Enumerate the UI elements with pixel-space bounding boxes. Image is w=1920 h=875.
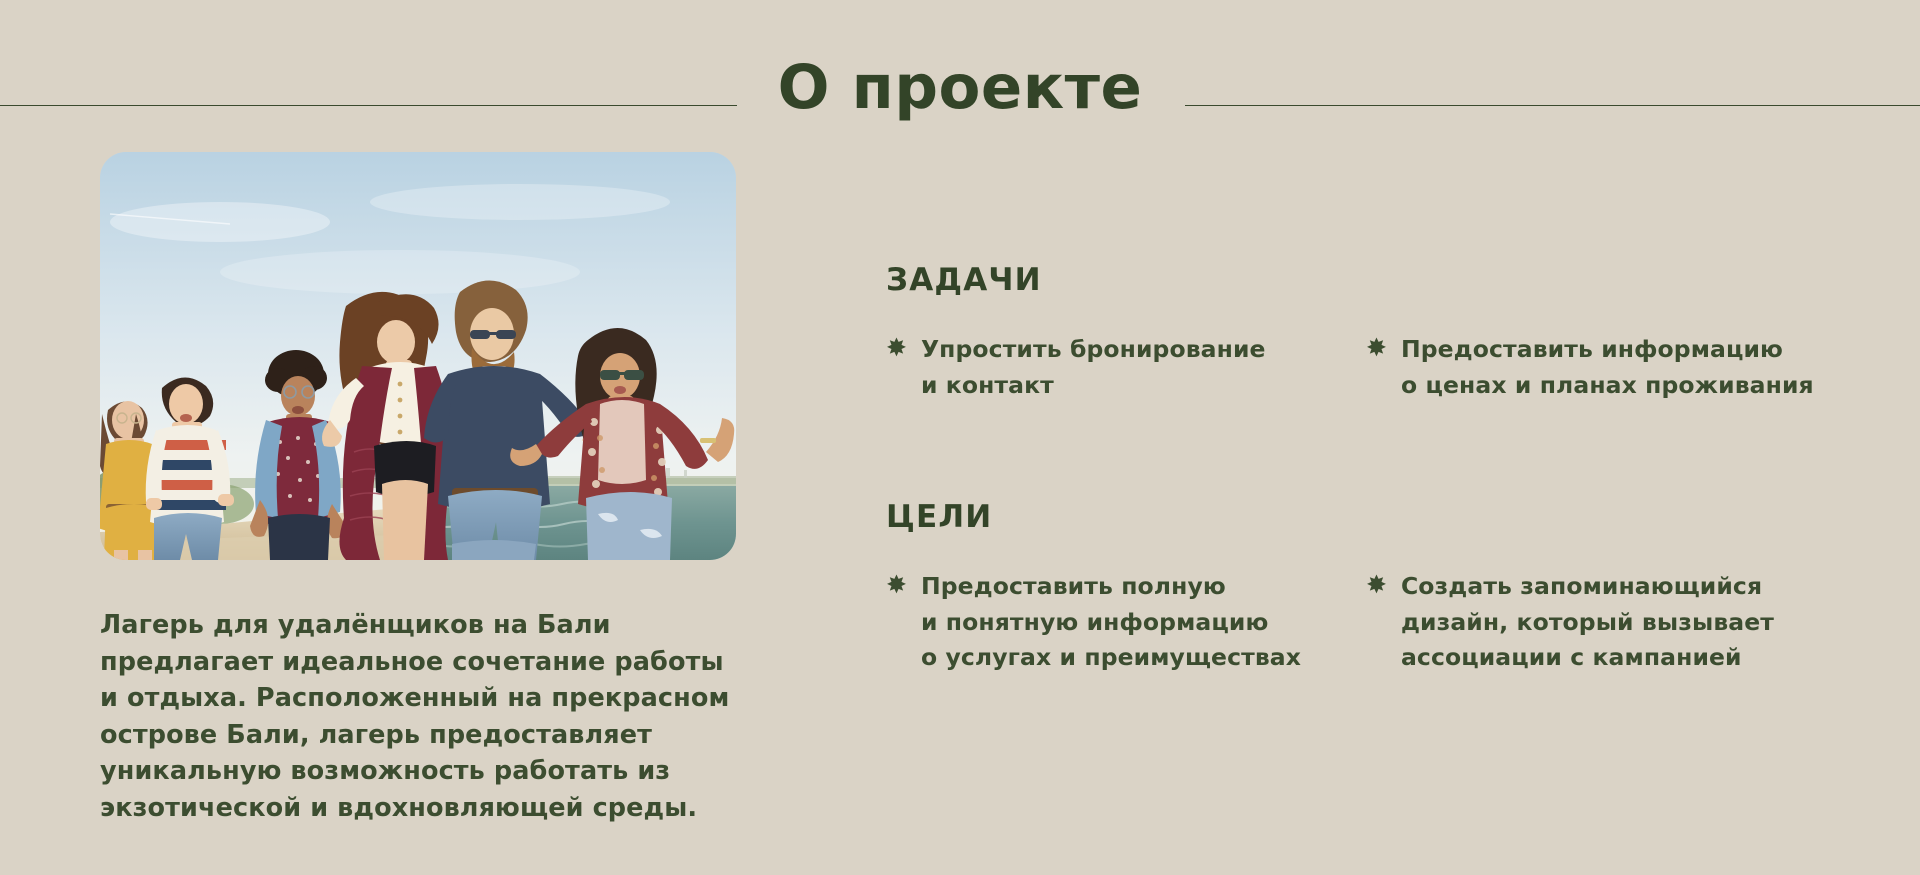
bullet-column-left: ✸ Упростить бронирование и контакт: [886, 332, 1366, 403]
list-item-label: Предоставить полную и понятную информаци…: [921, 569, 1301, 676]
left-column: Лагерь для удалёнщиков на Бали предлагае…: [100, 152, 740, 826]
slide-about-project: О проекте: [0, 0, 1920, 875]
section-goals-bullets: ✸ Предоставить полную и понятную информа…: [886, 569, 1846, 676]
bullet-column-left: ✸ Предоставить полную и понятную информа…: [886, 569, 1366, 676]
bullet-column-right: ✸ Создать запоминающийся дизайн, который…: [1366, 569, 1846, 676]
list-item: ✸ Предоставить полную и понятную информа…: [886, 569, 1366, 676]
header-rule-right: [1185, 105, 1920, 106]
section-tasks-bullets: ✸ Упростить бронирование и контакт ✸ Пре…: [886, 332, 1846, 403]
list-item: ✸ Предоставить информацию о ценах и план…: [1366, 332, 1846, 403]
hero-photo: [100, 152, 736, 560]
list-item: ✸ Упростить бронирование и контакт: [886, 332, 1366, 403]
page-title: О проекте: [760, 48, 1160, 128]
list-item-label: Создать запоминающийся дизайн, который в…: [1401, 569, 1774, 676]
section-goals-heading: ЦЕЛИ: [886, 499, 1846, 535]
bullet-column-right: ✸ Предоставить информацию о ценах и план…: [1366, 332, 1846, 403]
section-goals: ЦЕЛИ ✸ Предоставить полную и понятную ин…: [886, 499, 1846, 676]
eight-point-star-icon: ✸: [886, 568, 907, 602]
eight-point-star-icon: ✸: [1366, 331, 1387, 365]
slide-header: О проекте: [0, 48, 1920, 128]
intro-paragraph: Лагерь для удалёнщиков на Бали предлагае…: [100, 607, 750, 826]
section-tasks: ЗАДАЧИ ✸ Упростить бронирование и контак…: [886, 262, 1846, 403]
list-item: ✸ Создать запоминающийся дизайн, который…: [1366, 569, 1846, 676]
beach-friends-illustration: [100, 152, 736, 560]
eight-point-star-icon: ✸: [1366, 568, 1387, 602]
section-tasks-heading: ЗАДАЧИ: [886, 262, 1846, 298]
list-item-label: Упростить бронирование и контакт: [921, 332, 1266, 403]
eight-point-star-icon: ✸: [886, 331, 907, 365]
list-item-label: Предоставить информацию о ценах и планах…: [1401, 332, 1814, 403]
header-rule-left: [0, 105, 737, 106]
right-column: ЗАДАЧИ ✸ Упростить бронирование и контак…: [886, 262, 1846, 676]
